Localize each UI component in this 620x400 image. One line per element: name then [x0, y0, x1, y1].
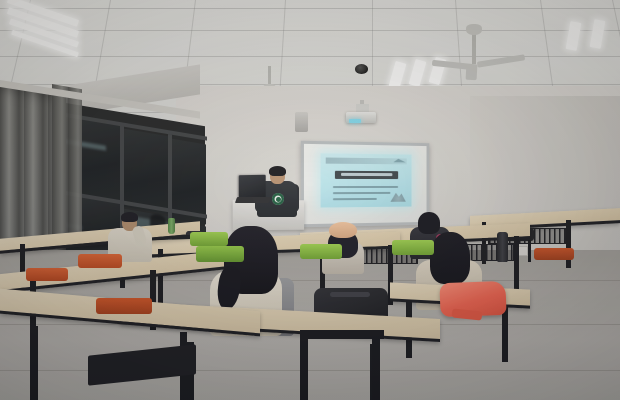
chair-orange-foreground [96, 298, 152, 316]
thermos-bottle [497, 232, 508, 262]
slide-header-band [326, 158, 407, 165]
dome-security-camera [355, 64, 368, 74]
chair-orange-left [78, 254, 122, 270]
wall-speaker [295, 112, 308, 132]
hoodie-logo-inner-icon [276, 197, 281, 202]
curtain-left-secondary [52, 84, 82, 239]
chair-green-right [392, 240, 434, 258]
projected-slide [321, 153, 412, 207]
chair-green-center [300, 244, 342, 262]
chair-green-far-left [196, 246, 244, 264]
chair-orange-right [534, 248, 574, 262]
chair-frame-foreground [300, 330, 390, 400]
slide-title-text [341, 173, 392, 176]
student-back-left [108, 212, 152, 260]
student-back-left-hair [121, 212, 138, 222]
classroom-photo [0, 0, 620, 400]
slide-graphic-icon [390, 191, 405, 202]
beret-hat [329, 222, 357, 238]
presenter-hair [269, 166, 286, 176]
presenter-laptop-screen [239, 175, 266, 199]
presenter-laptop-base [235, 197, 271, 203]
backpack-strap [330, 292, 370, 297]
projector-lens-icon [349, 119, 361, 123]
water-bottle-green [168, 218, 175, 234]
chair-orange-left-2 [26, 268, 68, 283]
